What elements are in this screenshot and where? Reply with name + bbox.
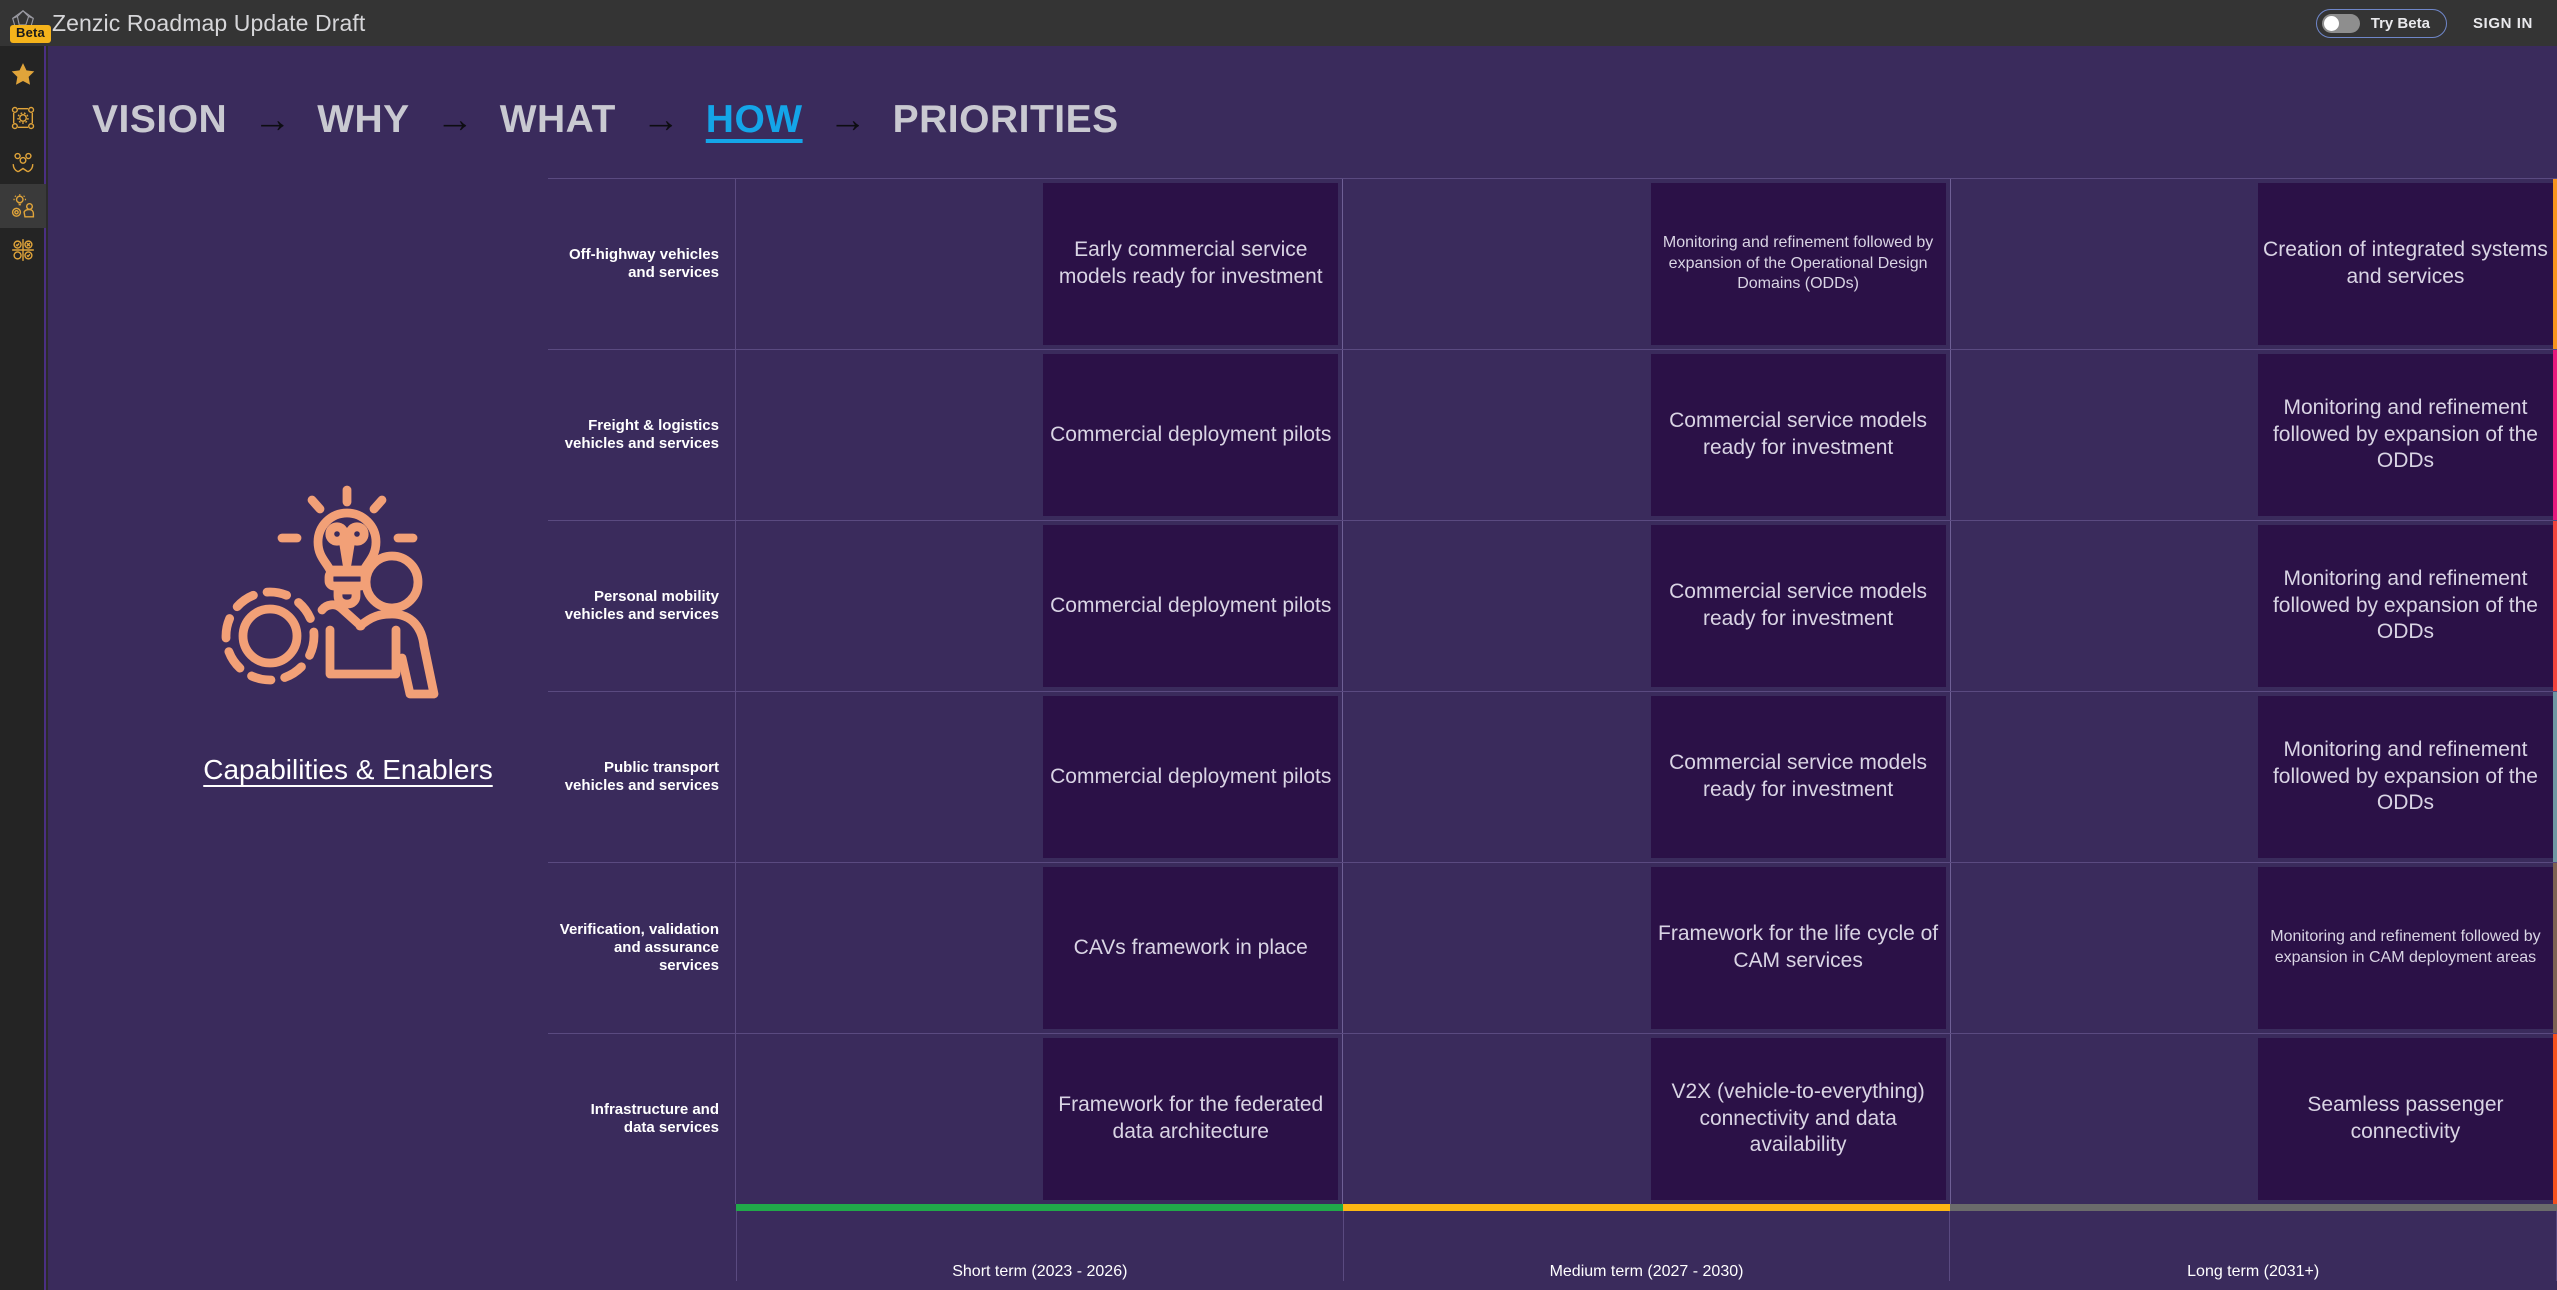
lightbulb-person-icon (10, 193, 36, 219)
milestone-card[interactable]: Monitoring and refinement followed by ex… (2258, 867, 2553, 1029)
toggle-switch-icon[interactable] (2322, 14, 2360, 33)
roadmap-cell (1342, 521, 1646, 691)
roadmap-row: Public transport vehicles and services C… (548, 691, 2557, 862)
sidebar-item-why[interactable] (0, 96, 46, 140)
roadmap-cell[interactable]: Commercial deployment pilots (1039, 521, 1342, 691)
roadmap-row: Freight & logistics vehicles and service… (548, 349, 2557, 520)
hands-gears-icon (10, 149, 36, 175)
title-bar: Beta Zenzic Roadmap Update Draft Try Bet… (0, 0, 2557, 46)
left-sidebar (0, 46, 46, 1290)
milestone-card[interactable]: Commercial deployment pilots (1043, 354, 1338, 516)
gears-cycle-icon (10, 105, 36, 131)
roadmap-cell[interactable]: Creation of integrated systems and servi… (2254, 179, 2557, 349)
illustration-caption: Capabilities & Enablers (108, 754, 588, 786)
star-icon (10, 61, 36, 87)
roadmap-cell[interactable]: Monitoring and refinement followed by ex… (2254, 692, 2557, 862)
row-cells: Early commercial service models ready fo… (736, 179, 2557, 349)
roadmap-cell (1342, 1034, 1646, 1204)
beta-badge: Beta (10, 25, 51, 43)
roadmap-cell[interactable]: Monitoring and refinement followed by ex… (2254, 863, 2557, 1033)
roadmap-cell[interactable]: Monitoring and refinement followed by ex… (1647, 179, 1950, 349)
sidebar-item-priorities[interactable] (0, 228, 46, 272)
roadmap-cell (736, 350, 1039, 520)
timeline-label-long: Long term (2031+) (1950, 1211, 2557, 1281)
roadmap-cell[interactable]: Commercial service models ready for inve… (1647, 350, 1950, 520)
sidebar-item-what[interactable] (0, 140, 46, 184)
sign-in-button[interactable]: SIGN IN (2473, 15, 2533, 32)
nav-arrow-icon: → (829, 101, 867, 139)
row-label: Public transport vehicles and services (548, 692, 736, 862)
milestone-card[interactable]: Commercial service models ready for inve… (1651, 696, 1946, 858)
stage-nav: VISION → WHY → WHAT → HOW → PRIORITIES (92, 92, 1119, 148)
milestone-card[interactable]: Monitoring and refinement followed by ex… (2258, 696, 2553, 858)
nav-step-vision[interactable]: VISION (92, 98, 227, 142)
row-label: Verification, validation and assurance s… (548, 863, 736, 1033)
milestone-card[interactable]: Creation of integrated systems and servi… (2258, 183, 2553, 345)
roadmap-cell (1950, 692, 2254, 862)
roadmap-cell[interactable]: Monitoring and refinement followed by ex… (2254, 521, 2557, 691)
roadmap-cell[interactable]: Commercial deployment pilots (1039, 692, 1342, 862)
window-title: Zenzic Roadmap Update Draft (52, 10, 365, 37)
roadmap-cell[interactable]: Framework for the life cycle of CAM serv… (1647, 863, 1950, 1033)
roadmap-cell (1950, 863, 2254, 1033)
milestone-card[interactable]: Commercial service models ready for inve… (1651, 525, 1946, 687)
roadmap-cell (736, 692, 1039, 862)
roadmap-row: Off-highway vehicles and services Early … (548, 178, 2557, 349)
timeline-label-medium: Medium term (2027 - 2030) (1344, 1211, 1951, 1281)
roadmap-cell (1342, 863, 1646, 1033)
milestone-card[interactable]: Seamless passenger connectivity (2258, 1038, 2553, 1200)
milestone-card[interactable]: CAVs framework in place (1043, 867, 1338, 1029)
row-cells: Framework for the federated data archite… (736, 1034, 2557, 1204)
nav-step-why[interactable]: WHY (317, 98, 410, 142)
row-cells: Commercial deployment pilots Commercial … (736, 521, 2557, 691)
timeline-labels: Short term (2023 - 2026) Medium term (20… (736, 1211, 2557, 1281)
nav-arrow-icon: → (642, 101, 680, 139)
try-beta-toggle[interactable]: Try Beta (2316, 9, 2447, 38)
roadmap-cell[interactable]: Seamless passenger connectivity (2254, 1034, 2557, 1204)
timeline-bars (736, 1204, 2557, 1211)
app-logo[interactable]: Beta (0, 0, 46, 46)
roadmap-grid: Off-highway vehicles and services Early … (548, 178, 2557, 1204)
nav-arrow-icon: → (253, 101, 291, 139)
roadmap-cell[interactable]: CAVs framework in place (1039, 863, 1342, 1033)
sidebar-item-how[interactable] (0, 184, 46, 228)
row-label: Infrastructure and data services (548, 1034, 736, 1204)
roadmap-cell[interactable]: Commercial service models ready for inve… (1647, 521, 1950, 691)
roadmap-row: Verification, validation and assurance s… (548, 862, 2557, 1033)
roadmap-cell[interactable]: Framework for the federated data archite… (1039, 1034, 1342, 1204)
roadmap-cell (1342, 350, 1646, 520)
milestone-card[interactable]: Framework for the federated data archite… (1043, 1038, 1338, 1200)
milestone-card[interactable]: Monitoring and refinement followed by ex… (2258, 354, 2553, 516)
roadmap-cell[interactable]: Early commercial service models ready fo… (1039, 179, 1342, 349)
roadmap-cell (1950, 1034, 2254, 1204)
roadmap-cell (1950, 350, 2254, 520)
titlebar-actions: Try Beta SIGN IN (2316, 9, 2557, 38)
roadmap-row: Infrastructure and data services Framewo… (548, 1033, 2557, 1204)
nav-step-what[interactable]: WHAT (500, 98, 616, 142)
milestone-card[interactable]: Commercial deployment pilots (1043, 525, 1338, 687)
roadmap-cell (1342, 179, 1646, 349)
roadmap-cell[interactable]: V2X (vehicle-to-everything) connectivity… (1647, 1034, 1950, 1204)
row-cells: Commercial deployment pilots Commercial … (736, 692, 2557, 862)
roadmap-cell[interactable]: Commercial deployment pilots (1039, 350, 1342, 520)
milestone-card[interactable]: Commercial service models ready for inve… (1651, 354, 1946, 516)
roadmap-cell (736, 179, 1039, 349)
try-beta-label: Try Beta (2371, 15, 2430, 32)
row-label: Personal mobility vehicles and services (548, 521, 736, 691)
roadmap-cell[interactable]: Commercial service models ready for inve… (1647, 692, 1950, 862)
timeline-bar-long (1950, 1204, 2557, 1211)
capabilities-illustration: Capabilities & Enablers (108, 446, 588, 786)
roadmap-canvas: VISION → WHY → WHAT → HOW → PRIORITIES (48, 46, 2557, 1290)
roadmap-cell (1950, 521, 2254, 691)
lightbulb-gear-person-icon (198, 446, 498, 736)
milestone-card[interactable]: Monitoring and refinement followed by ex… (2258, 525, 2553, 687)
row-label: Off-highway vehicles and services (548, 179, 736, 349)
checklist-grid-icon (10, 237, 36, 263)
roadmap-cell (736, 521, 1039, 691)
sidebar-item-vision[interactable] (0, 52, 46, 96)
milestone-card[interactable]: Monitoring and refinement followed by ex… (1651, 183, 1946, 345)
roadmap-cell (736, 1034, 1039, 1204)
roadmap-cell (1342, 692, 1646, 862)
nav-arrow-icon: → (436, 101, 474, 139)
roadmap-cell (1950, 179, 2254, 349)
nav-step-how[interactable]: HOW (706, 98, 803, 142)
roadmap-cell (736, 863, 1039, 1033)
roadmap-row: Personal mobility vehicles and services … (548, 520, 2557, 691)
milestone-card[interactable]: Framework for the life cycle of CAM serv… (1651, 867, 1946, 1029)
timeline-bar-short (736, 1204, 1343, 1211)
milestone-card[interactable]: Early commercial service models ready fo… (1043, 183, 1338, 345)
timeline-bar-medium (1343, 1204, 1950, 1211)
row-cells: CAVs framework in place Framework for th… (736, 863, 2557, 1033)
roadmap-cell[interactable]: Monitoring and refinement followed by ex… (2254, 350, 2557, 520)
nav-step-priorities[interactable]: PRIORITIES (893, 98, 1119, 142)
row-label: Freight & logistics vehicles and service… (548, 350, 736, 520)
row-cells: Commercial deployment pilots Commercial … (736, 350, 2557, 520)
milestone-card[interactable]: Commercial deployment pilots (1043, 696, 1338, 858)
milestone-card[interactable]: V2X (vehicle-to-everything) connectivity… (1651, 1038, 1946, 1200)
timeline-label-short: Short term (2023 - 2026) (736, 1211, 1344, 1281)
timeline-footer: Short term (2023 - 2026) Medium term (20… (736, 1204, 2557, 1290)
